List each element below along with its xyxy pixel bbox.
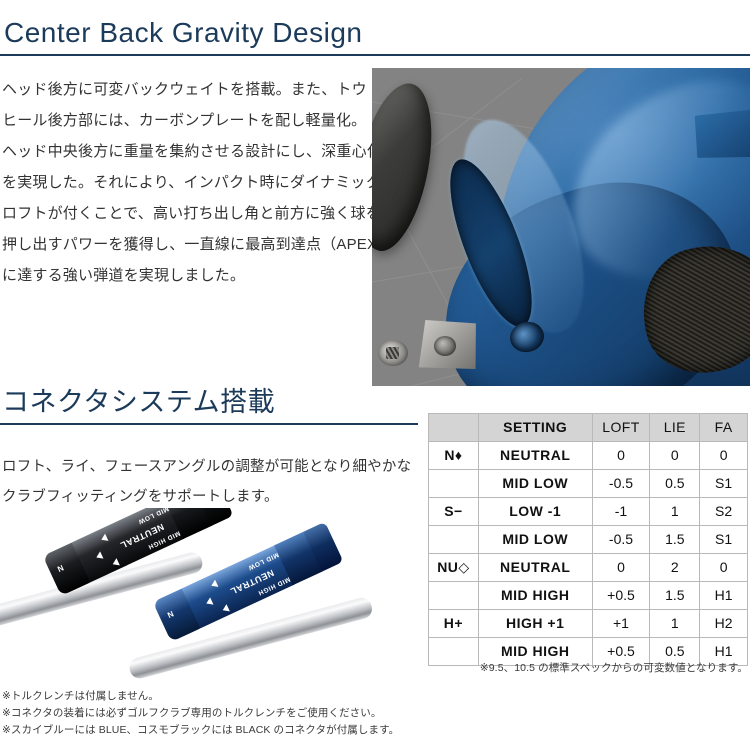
table-row: S− LOW -1 -1 1 S2: [429, 498, 748, 526]
gravity-line-2: ヒール後方部には、カーボンプレートを配し軽量化。: [2, 105, 366, 136]
cell-lie: 1.5: [650, 526, 700, 554]
mark-mid-low: MID LOW: [137, 508, 170, 525]
footnotes: ※トルクレンチは付属しません。 ※コネクタの装着には必ずゴルフクラブ専用のトルク…: [2, 688, 432, 739]
col-header-lie: LIE: [650, 414, 700, 442]
cell-fa: S1: [700, 526, 748, 554]
connector-description: ロフト、ライ、フェースアングルの調整が可能となり細やかな クラブフィッティングを…: [2, 452, 402, 512]
cell-fa: S2: [700, 498, 748, 526]
gravity-line-4: を実現した。それにより、インパクト時にダイナミック: [2, 167, 366, 198]
table-header-row: SETTING LOFT LIE FA: [429, 414, 748, 442]
table-body: N♦ NEUTRAL 0 0 0 MID LOW -0.5 0.5 S1 S− …: [429, 442, 748, 666]
cell-lie: 2: [650, 554, 700, 582]
arrow-icon: [95, 551, 104, 561]
cell-setting: LOW -1: [478, 498, 592, 526]
product-detail-page: Center Back Gravity Design ヘッド後方に可変バックウェ…: [0, 0, 750, 750]
gravity-line-5: ロフトが付くことで、高い打ち出し角と前方に強く球を: [2, 198, 366, 229]
cell-setting: MID LOW: [478, 526, 592, 554]
arrow-icon: [205, 597, 214, 607]
arrow-icon: [100, 534, 109, 544]
col-header-fa: FA: [700, 414, 748, 442]
cell-key: NU◇: [429, 554, 479, 582]
cell-setting: MID LOW: [478, 470, 592, 498]
cell-key: S−: [429, 498, 479, 526]
cell-loft: +0.5: [592, 582, 650, 610]
cell-lie: 1: [650, 498, 700, 526]
gravity-line-1: ヘッド後方に可変バックウェイトを搭載。また、トウ・: [2, 74, 366, 105]
cell-loft: -0.5: [592, 470, 650, 498]
cell-loft: -1: [592, 498, 650, 526]
cell-loft: 0: [592, 554, 650, 582]
cell-lie: 0: [650, 442, 700, 470]
heading-divider: [0, 54, 750, 56]
table-row: NU◇ NEUTRAL 0 2 0: [429, 554, 748, 582]
footnote-1: ※トルクレンチは付属しません。: [2, 688, 432, 705]
table-row: H+ HIGH +1 +1 1 H2: [429, 610, 748, 638]
cell-setting: MID HIGH: [478, 582, 592, 610]
connector-line-1: ロフト、ライ、フェースアングルの調整が可能となり細やかな: [2, 452, 402, 482]
gravity-line-6: 押し出すパワーを獲得し、一直線に最高到達点（APEX）: [2, 229, 366, 260]
arrow-icon: [221, 604, 230, 614]
col-header-key: [429, 414, 479, 442]
gravity-description: ヘッド後方に可変バックウェイトを搭載。また、トウ・ ヒール後方部には、カーボンプ…: [2, 74, 366, 291]
cell-lie: 1.5: [650, 582, 700, 610]
gravity-line-7: に達する強い弾道を実現しました。: [2, 260, 366, 291]
mark-neutral: NEUTRAL: [229, 568, 276, 597]
connector-title: コネクタシステム搭載: [0, 388, 420, 418]
cell-setting: NEUTRAL: [478, 442, 592, 470]
cell-key: [429, 526, 479, 554]
footnote-3: ※スカイブルーには BLUE、コスモブラックには BLACK のコネクタが付属し…: [2, 722, 432, 739]
cell-fa: H1: [700, 582, 748, 610]
cell-lie: 0.5: [650, 470, 700, 498]
cell-key: [429, 582, 479, 610]
cell-key: H+: [429, 610, 479, 638]
cell-fa: S1: [700, 470, 748, 498]
section-heading-connector: コネクタシステム搭載: [0, 388, 420, 425]
cell-key: [429, 470, 479, 498]
cell-setting: NEUTRAL: [478, 554, 592, 582]
weight-screw: [378, 340, 408, 366]
heading-divider: [0, 423, 418, 425]
cell-fa: H2: [700, 610, 748, 638]
gravity-line-3: ヘッド中央後方に重量を集約させる設計にし、深重心化: [2, 136, 366, 167]
cell-fa: 0: [700, 554, 748, 582]
cell-setting: HIGH +1: [478, 610, 592, 638]
page-title: Center Back Gravity Design: [0, 18, 750, 49]
table-row: MID LOW -0.5 1.5 S1: [429, 526, 748, 554]
mark-neutral: NEUTRAL: [119, 522, 166, 551]
table-row: MID LOW -0.5 0.5 S1: [429, 470, 748, 498]
section-heading-gravity: Center Back Gravity Design: [0, 18, 750, 56]
connector-sleeve-figure: MID HIGH NEUTRAL MID LOW N MID HIGH NEUT…: [0, 508, 420, 680]
table-row: N♦ NEUTRAL 0 0 0: [429, 442, 748, 470]
cell-loft: 0: [592, 442, 650, 470]
footnote-2: ※コネクタの装着には必ずゴルフクラブ専用のトルクレンチをご使用ください。: [2, 705, 432, 722]
cell-loft: -0.5: [592, 526, 650, 554]
cell-loft: +1: [592, 610, 650, 638]
col-header-loft: LOFT: [592, 414, 650, 442]
driver-head-figure: [372, 68, 750, 386]
setting-spec-table: SETTING LOFT LIE FA N♦ NEUTRAL 0 0 0 MID…: [428, 413, 748, 666]
table-row: MID HIGH +0.5 1.5 H1: [429, 582, 748, 610]
cell-lie: 1: [650, 610, 700, 638]
weight-holder-hole: [434, 336, 456, 356]
cell-key: N♦: [429, 442, 479, 470]
sleeve-markings: MID HIGH NEUTRAL MID LOW: [185, 543, 298, 627]
col-header-setting: SETTING: [478, 414, 592, 442]
cell-fa: 0: [700, 442, 748, 470]
table-note: ※9.5、10.5 の標準スペックからの可変数値となります。: [428, 660, 748, 675]
arrow-icon: [210, 580, 219, 590]
arrow-icon: [111, 558, 120, 568]
mark-mid-low: MID LOW: [247, 551, 280, 571]
